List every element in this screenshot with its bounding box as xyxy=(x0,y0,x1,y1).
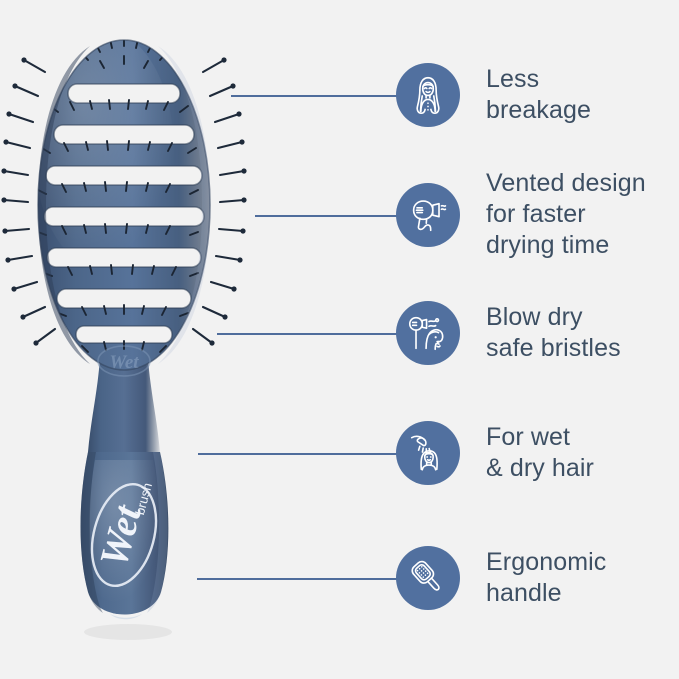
icon-badge-less-breakage[interactable] xyxy=(396,63,460,127)
icon-badge-wet-and-dry[interactable] xyxy=(396,421,460,485)
connector-line-4 xyxy=(198,453,398,455)
connector-line-3 xyxy=(217,333,398,335)
woman-long-hair-icon xyxy=(405,72,451,118)
shower-head-woman-icon xyxy=(405,430,451,476)
hair-dryer-face-icon xyxy=(405,310,451,356)
connector-line-1 xyxy=(231,95,398,97)
feature-label-wet-and-dry: For wet & dry hair xyxy=(486,422,594,484)
connector-line-5 xyxy=(197,578,398,580)
feature-label-ergonomic-handle: Ergonomic handle xyxy=(486,547,606,609)
product-infographic: Wet Wet brush xyxy=(0,0,679,679)
paddle-brush-icon xyxy=(405,555,451,601)
feature-label-less-breakage: Less breakage xyxy=(486,64,591,126)
feature-label-blow-dry-safe: Blow dry safe bristles xyxy=(486,302,621,364)
icon-badge-vented-design[interactable] xyxy=(396,183,460,247)
icon-badge-ergonomic-handle[interactable] xyxy=(396,546,460,610)
icon-badge-blow-dry-safe[interactable] xyxy=(396,301,460,365)
feature-label-vented-design: Vented design for faster drying time xyxy=(486,168,646,261)
connector-line-2 xyxy=(255,215,398,217)
hair-dryer-air-icon xyxy=(405,192,451,238)
feature-list: Less breakage xyxy=(0,0,679,679)
